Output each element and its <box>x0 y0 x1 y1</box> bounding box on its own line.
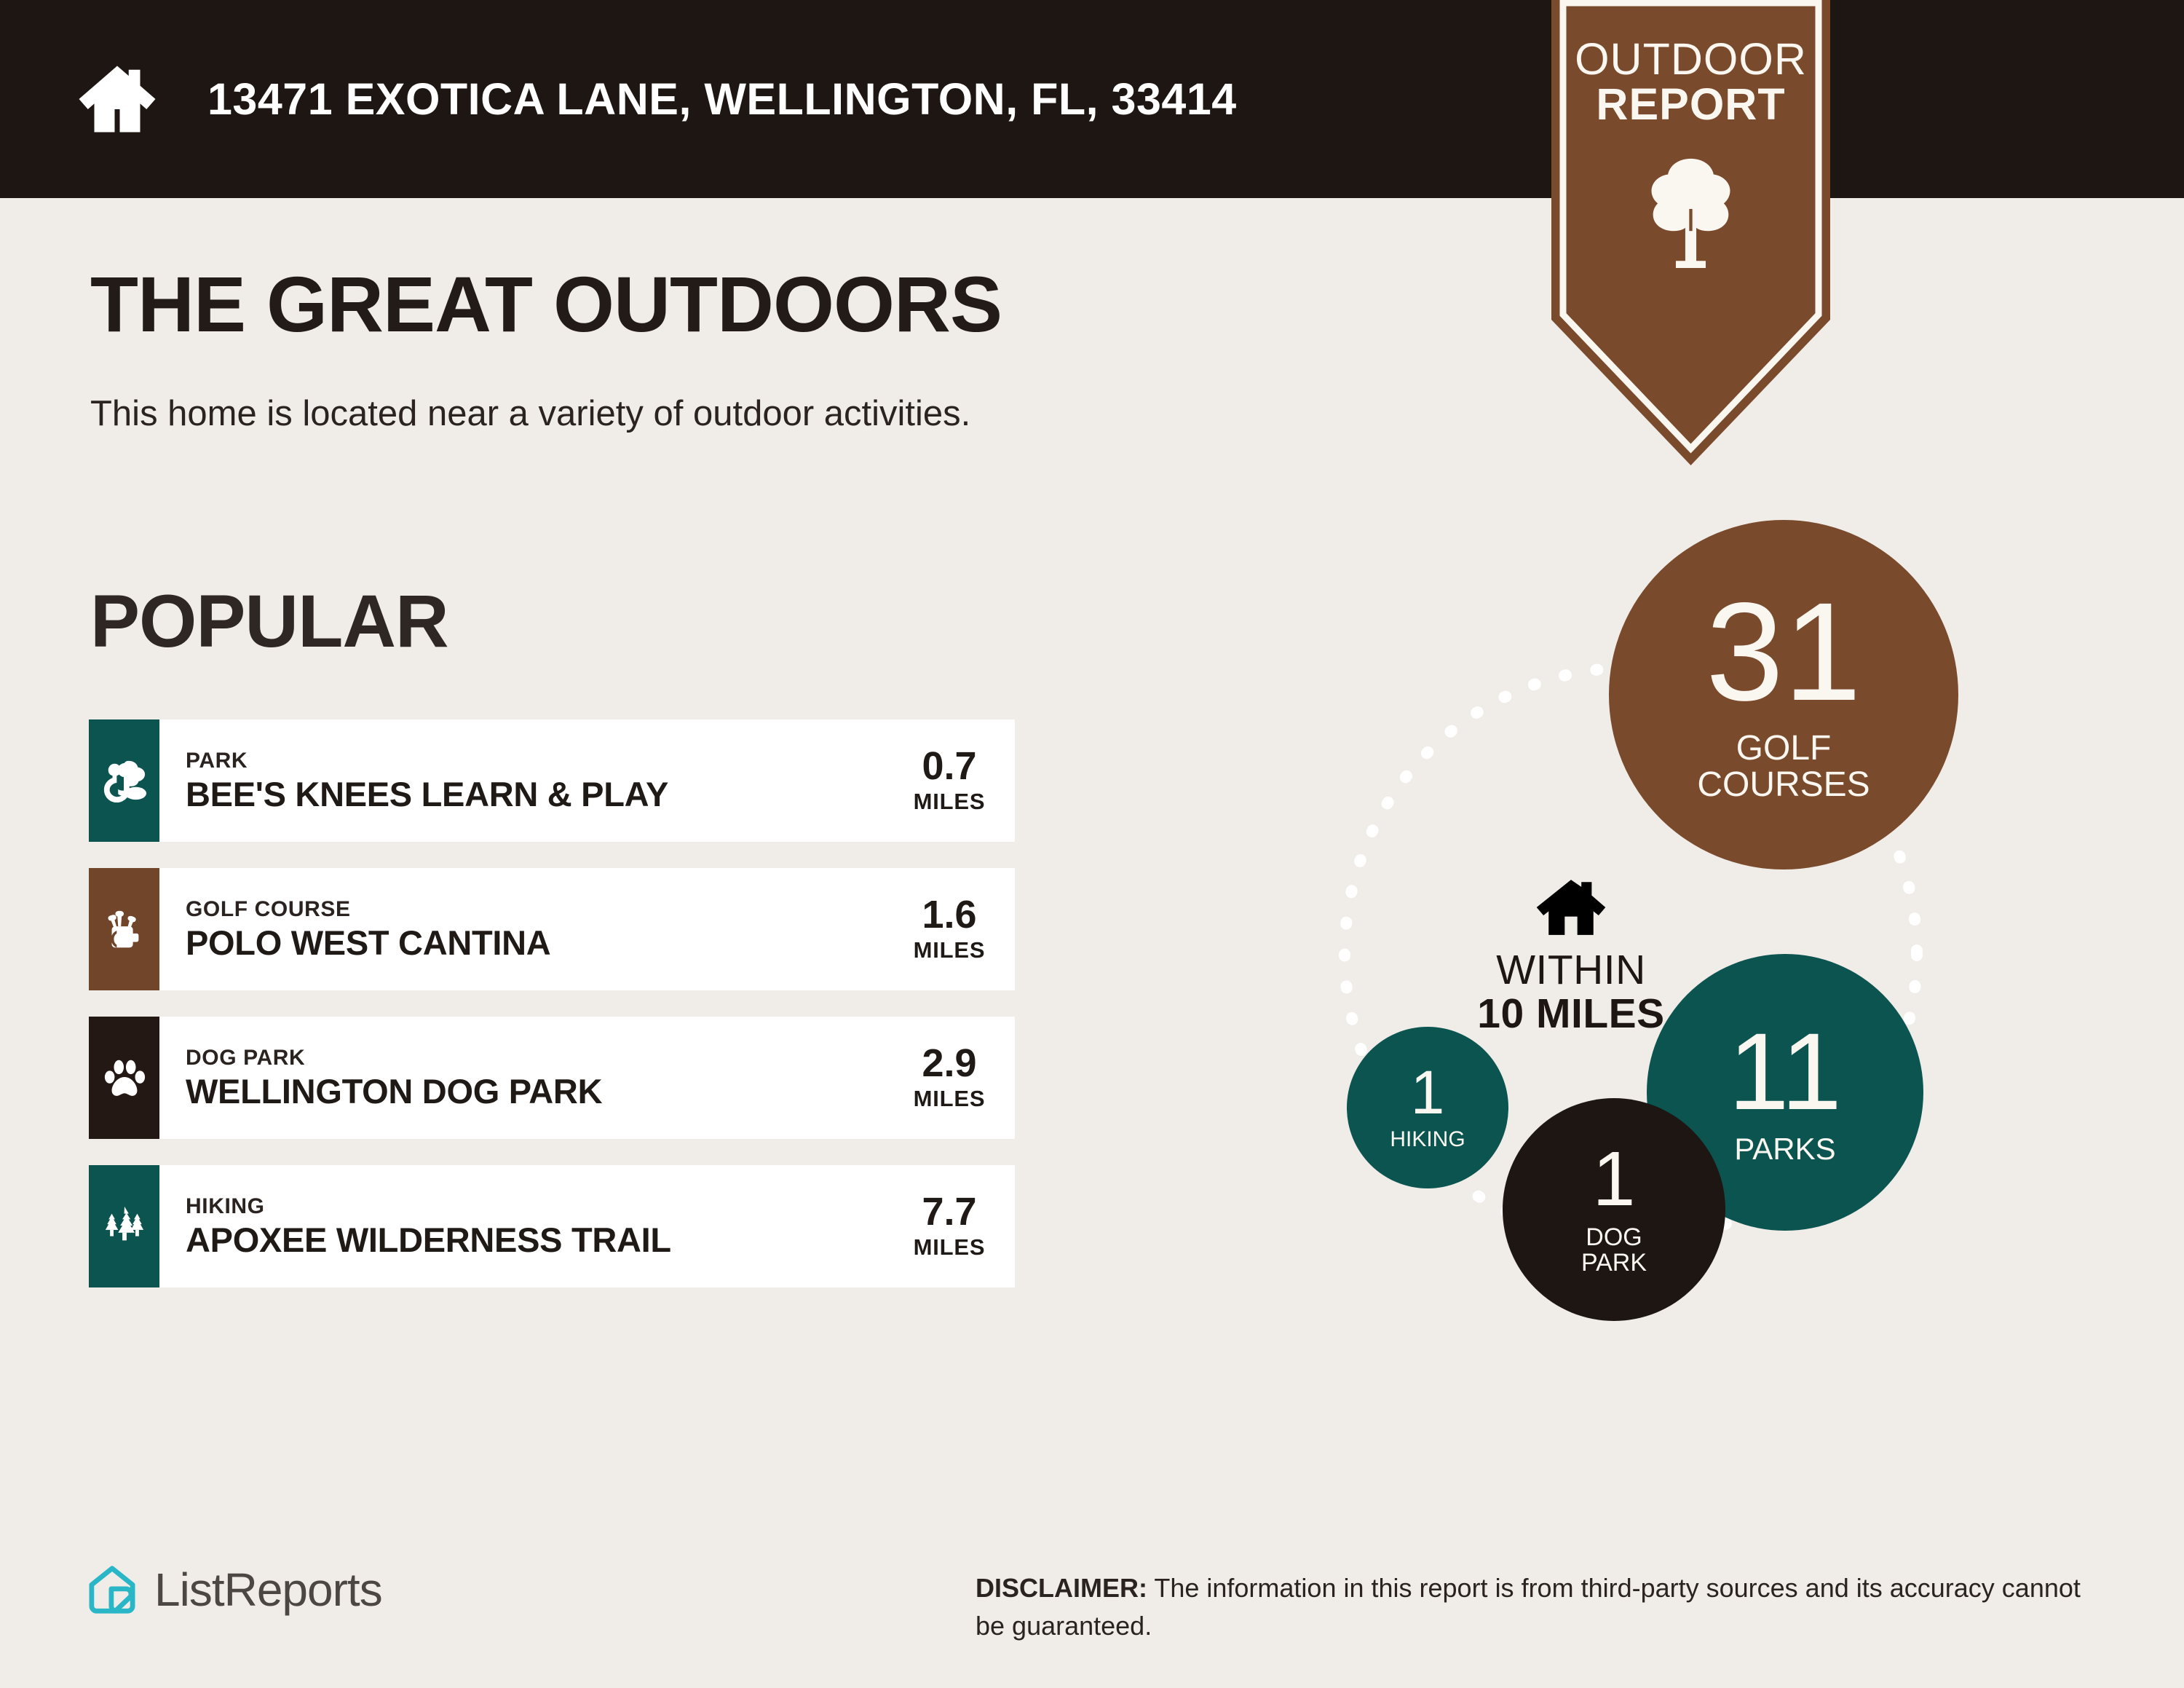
item-name: WELLINGTON DOG PARK <box>186 1074 891 1109</box>
pine-trees-icon <box>89 1165 159 1287</box>
item-name: POLO WEST CANTINA <box>186 926 891 961</box>
item-category: PARK <box>186 749 891 773</box>
bubble-golf-courses[interactable]: 31 GOLF COURSES <box>1609 520 1958 869</box>
item-name: APOXEE WILDERNESS TRAIL <box>186 1223 891 1258</box>
item-distance: 0.7 MILES <box>891 746 1002 815</box>
bubble-count: 1 <box>1411 1064 1445 1122</box>
listreports-logo[interactable]: ListReports <box>86 1563 382 1617</box>
bubble-label-line-1: DOG <box>1581 1225 1647 1251</box>
house-icon <box>76 58 158 140</box>
bubble-count: 11 <box>1728 1019 1842 1124</box>
popular-heading: POPULAR <box>90 579 448 664</box>
item-distance: 1.6 MILES <box>891 895 1002 963</box>
bubble-count: 31 <box>1706 585 1861 718</box>
page-title: THE GREAT OUTDOORS <box>90 259 1002 350</box>
disclaimer: DISCLAIMER: The information in this repo… <box>976 1569 2111 1645</box>
within-line-1: WITHIN <box>1447 949 1695 993</box>
header-bar: 13471 EXOTICA LANE, WELLINGTON, FL, 3341… <box>0 0 2184 198</box>
bubble-count: 1 <box>1593 1143 1636 1216</box>
outdoor-report-page: 13471 EXOTICA LANE, WELLINGTON, FL, 3341… <box>0 0 2184 1688</box>
within-line-2: 10 MILES <box>1447 993 1695 1036</box>
listreports-house-icon <box>86 1563 138 1616</box>
list-item[interactable]: HIKING APOXEE WILDERNESS TRAIL 7.7 MILES <box>89 1165 1015 1287</box>
house-icon <box>1533 877 1609 937</box>
item-distance: 7.7 MILES <box>891 1192 1002 1261</box>
park-trees-path-icon <box>89 719 159 842</box>
item-distance-unit: MILES <box>897 789 1002 815</box>
item-category: HIKING <box>186 1195 891 1218</box>
item-distance-value: 0.7 <box>897 746 1002 786</box>
bubble-label-line-2: COURSES <box>1697 767 1870 803</box>
disclaimer-label: DISCLAIMER: <box>976 1573 1147 1603</box>
within-10-miles-diagram: WITHIN 10 MILES 31 GOLF COURSES 11 PARKS… <box>1158 473 2162 1493</box>
item-distance: 2.9 MILES <box>891 1044 1002 1112</box>
bubble-hiking[interactable]: 1 HIKING <box>1347 1027 1508 1188</box>
bubble-label: DOG PARK <box>1581 1225 1647 1277</box>
item-category: GOLF COURSE <box>186 898 891 921</box>
item-distance-unit: MILES <box>897 1234 1002 1261</box>
item-distance-value: 1.6 <box>897 895 1002 934</box>
popular-list: PARK BEE'S KNEES LEARN & PLAY 0.7 MILES … <box>89 719 1015 1287</box>
bubble-label: PARKS <box>1734 1133 1835 1165</box>
item-distance-unit: MILES <box>897 1086 1002 1112</box>
bubble-label: GOLF COURSES <box>1697 730 1870 804</box>
within-label-group: WITHIN 10 MILES <box>1447 877 1695 1036</box>
bubble-label-line-1: GOLF <box>1697 730 1870 767</box>
property-address: 13471 EXOTICA LANE, WELLINGTON, FL, 3341… <box>207 74 1237 125</box>
bubble-label-line-2: PARK <box>1581 1250 1647 1277</box>
list-item[interactable]: DOG PARK WELLINGTON DOG PARK 2.9 MILES <box>89 1017 1015 1139</box>
badge-shape <box>1551 0 1830 465</box>
listreports-wordmark: ListReports <box>154 1563 382 1617</box>
paw-print-icon <box>89 1017 159 1139</box>
bubble-dog-park[interactable]: 1 DOG PARK <box>1503 1098 1725 1321</box>
list-item[interactable]: GOLF COURSE POLO WEST CANTINA 1.6 MILES <box>89 868 1015 990</box>
page-subtitle: This home is located near a variety of o… <box>90 393 970 434</box>
item-name: BEE'S KNEES LEARN & PLAY <box>186 777 891 812</box>
outdoor-report-badge: OUTDOOR REPORT <box>1551 0 1830 465</box>
golf-bag-icon <box>89 868 159 990</box>
item-category: DOG PARK <box>186 1046 891 1070</box>
item-distance-value: 2.9 <box>897 1044 1002 1083</box>
item-distance-value: 7.7 <box>897 1192 1002 1231</box>
bubble-label: HIKING <box>1390 1128 1465 1151</box>
list-item[interactable]: PARK BEE'S KNEES LEARN & PLAY 0.7 MILES <box>89 719 1015 842</box>
item-distance-unit: MILES <box>897 937 1002 963</box>
